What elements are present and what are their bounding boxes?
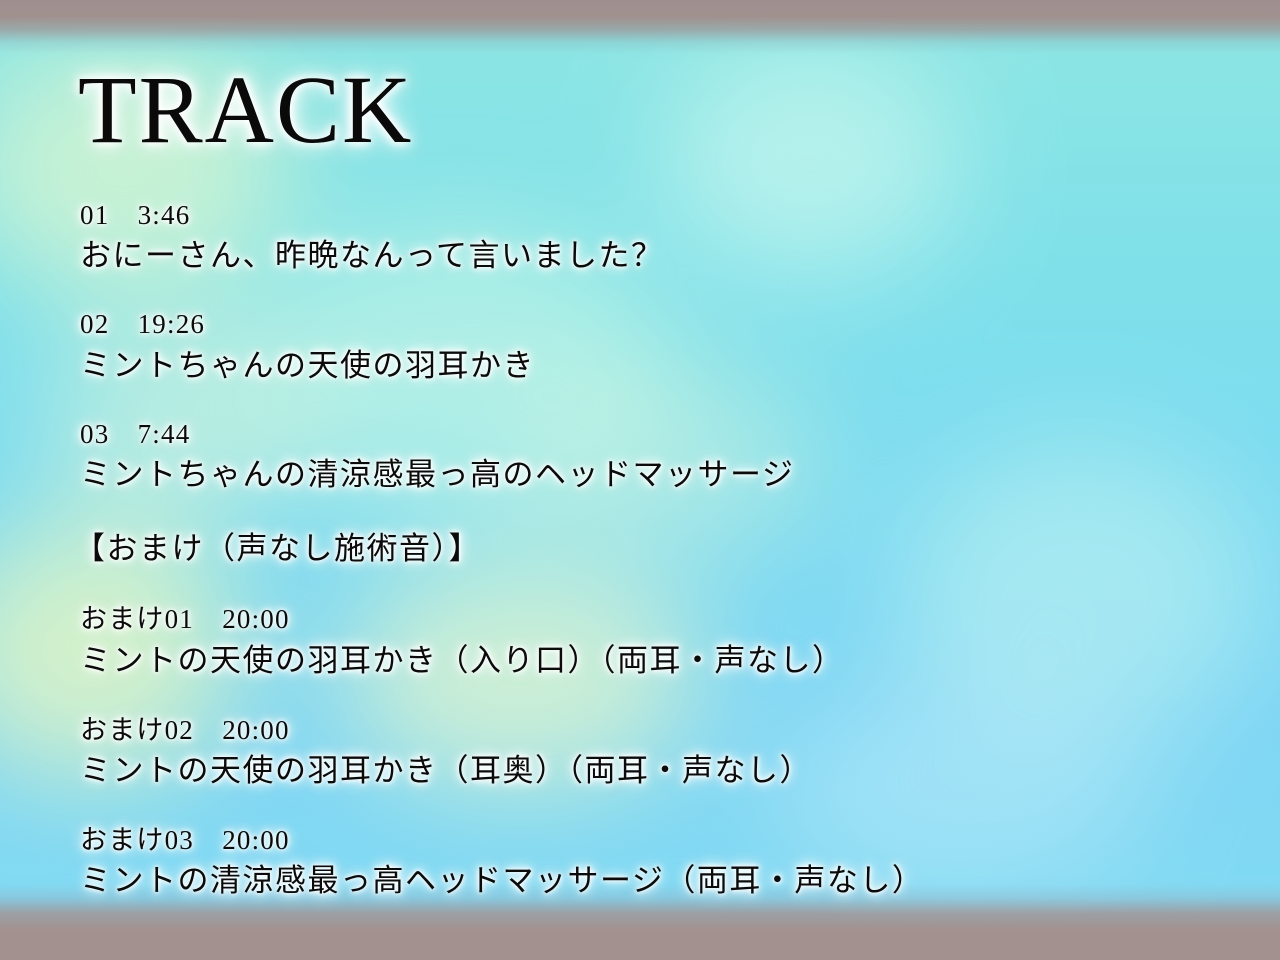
- track-listing: 01 3:46 おにーさん、昨晩なんって言いました？ 02 19:26 ミントち…: [80, 196, 1230, 931]
- bonus-track-listing: おまけ01 20:00 ミントの天使の羽耳かき（入り口）（両耳・声なし） おまけ…: [80, 600, 1230, 903]
- track-meta: 01 3:46: [80, 196, 1230, 234]
- bonus-track-entry: おまけ02 20:00 ミントの天使の羽耳かき（耳奥）（両耳・声なし）: [80, 711, 1230, 793]
- track-name: おにーさん、昨晩なんって言いました？: [80, 234, 1230, 278]
- bonus-track-name: ミントの天使の羽耳かき（入り口）（両耳・声なし）: [80, 639, 1230, 683]
- track-meta: 02 19:26: [80, 305, 1230, 343]
- bonus-track-meta: おまけ03 20:00: [80, 821, 1230, 859]
- page-title: TRACK: [78, 62, 413, 158]
- track-list-slide: TRACK 01 3:46 おにーさん、昨晩なんって言いました？ 02 19:2…: [0, 0, 1280, 960]
- bonus-track-entry: おまけ01 20:00 ミントの天使の羽耳かき（入り口）（両耳・声なし）: [80, 600, 1230, 682]
- track-name: ミントちゃんの天使の羽耳かき: [80, 344, 1230, 388]
- track-name: ミントちゃんの清涼感最っ高のヘッドマッサージ: [80, 453, 1230, 497]
- bonus-section-heading: 【おまけ（声なし施術音）】: [74, 527, 1230, 570]
- track-meta: 03 7:44: [80, 415, 1230, 453]
- bonus-track-name: ミントの天使の羽耳かき（耳奥）（両耳・声なし）: [80, 749, 1230, 793]
- slide-content: TRACK 01 3:46 おにーさん、昨晩なんって言いました？ 02 19:2…: [0, 0, 1280, 960]
- bonus-track-name: ミントの清涼感最っ高ヘッドマッサージ（両耳・声なし）: [80, 859, 1230, 903]
- track-entry: 02 19:26 ミントちゃんの天使の羽耳かき: [80, 305, 1230, 387]
- bonus-track-entry: おまけ03 20:00 ミントの清涼感最っ高ヘッドマッサージ（両耳・声なし）: [80, 821, 1230, 903]
- bonus-track-meta: おまけ01 20:00: [80, 600, 1230, 638]
- track-entry: 01 3:46 おにーさん、昨晩なんって言いました？: [80, 196, 1230, 278]
- track-entry: 03 7:44 ミントちゃんの清涼感最っ高のヘッドマッサージ: [80, 415, 1230, 497]
- bonus-track-meta: おまけ02 20:00: [80, 711, 1230, 749]
